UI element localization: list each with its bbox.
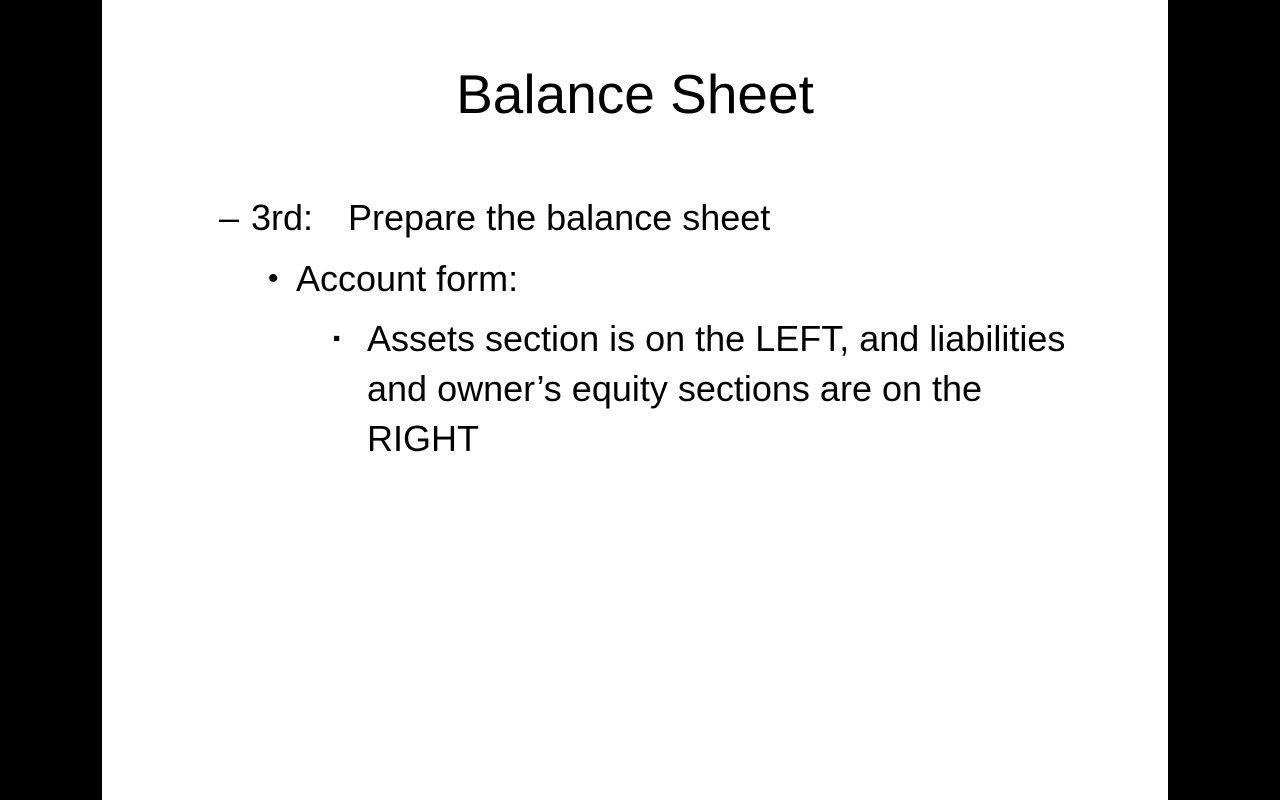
presentation-slide: Balance Sheet – 3rd: Prepare the balance… bbox=[102, 0, 1168, 800]
round-bullet-icon: • bbox=[268, 254, 296, 304]
slide-viewer: Balance Sheet – 3rd: Prepare the balance… bbox=[0, 0, 1280, 800]
bullet-item-level-3: ▪ Assets section is on the LEFT, and lia… bbox=[102, 314, 1168, 464]
bullet-text-level-2: Account form: bbox=[296, 254, 518, 304]
letterbox-bar-left bbox=[0, 0, 102, 800]
bullet-item-level-2: • Account form: bbox=[102, 254, 1168, 304]
square-bullet-icon: ▪ bbox=[333, 314, 367, 364]
bullet-text-level-3: Assets section is on the LEFT, and liabi… bbox=[367, 314, 1082, 464]
letterbox-bar-right bbox=[1168, 0, 1280, 800]
bullet-text-level-1: Prepare the balance sheet bbox=[348, 193, 770, 243]
bullet-item-level-1: – 3rd: Prepare the balance sheet bbox=[102, 193, 1168, 243]
slide-body: – 3rd: Prepare the balance sheet • Accou… bbox=[102, 193, 1168, 464]
bullet-lead-label: 3rd: bbox=[251, 193, 348, 243]
en-dash-bullet-icon: – bbox=[219, 193, 251, 243]
page-title: Balance Sheet bbox=[102, 62, 1168, 126]
